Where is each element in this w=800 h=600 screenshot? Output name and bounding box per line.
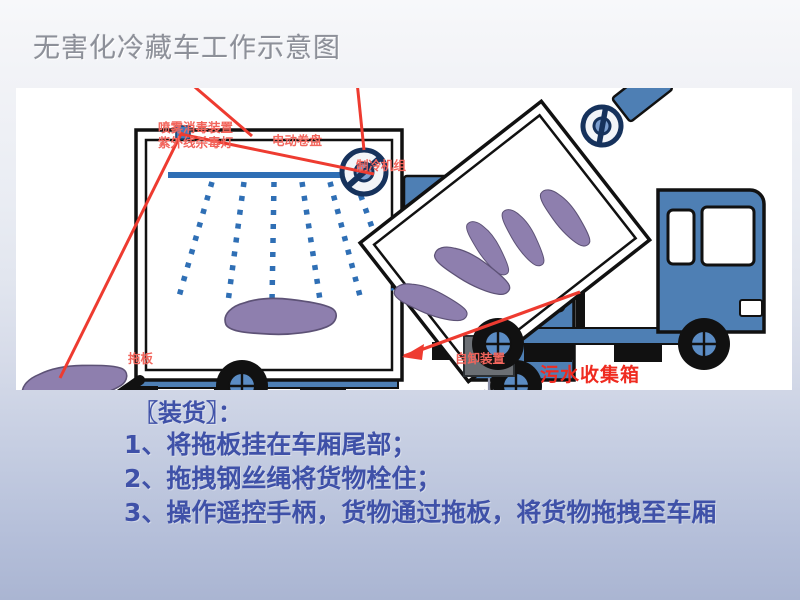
instructions-block: 〖装货〗： 1、将拖板挂在车厢尾部； 2、拖拽钢丝绳将货物栓住； 3、操作遥控手… — [130, 398, 800, 530]
instruction-step-2: 2、拖拽钢丝绳将货物栓住； — [124, 462, 800, 496]
page-title: 无害化冷藏车工作示意图 — [33, 26, 341, 65]
instruction-step-3: 3、操作遥控手柄，货物通过拖板，将货物拖拽至车厢 — [124, 496, 800, 530]
label-refrigeration-unit: 制冷机组 — [356, 158, 406, 173]
carcass-outside — [20, 359, 130, 390]
label-spray-disinfect-line1: 喷雾消毒装置 — [158, 120, 233, 135]
label-spray-disinfect: 喷雾消毒装置 紫外线杀毒灯 — [158, 120, 233, 150]
label-electric-reel: 电动卷盘 — [272, 133, 322, 148]
label-spray-disinfect-line2: 紫外线杀毒灯 — [158, 135, 233, 150]
truck-diagram-svg — [16, 88, 792, 390]
label-self-dump: 自卸装置 — [455, 351, 505, 366]
right-truck-dumping — [360, 88, 764, 390]
label-drag-board: 拖板 — [128, 351, 153, 366]
instructions-heading: 〖装货〗： — [134, 398, 800, 428]
instruction-step-1: 1、将拖板挂在车厢尾部； — [124, 428, 800, 462]
diagram-panel — [16, 88, 792, 390]
diagram-illustration — [16, 88, 792, 390]
slide-canvas: 无害化冷藏车工作示意图 — [0, 0, 800, 600]
carcass-inside — [225, 298, 336, 334]
label-sewage-box: 污水收集箱 — [540, 368, 640, 383]
